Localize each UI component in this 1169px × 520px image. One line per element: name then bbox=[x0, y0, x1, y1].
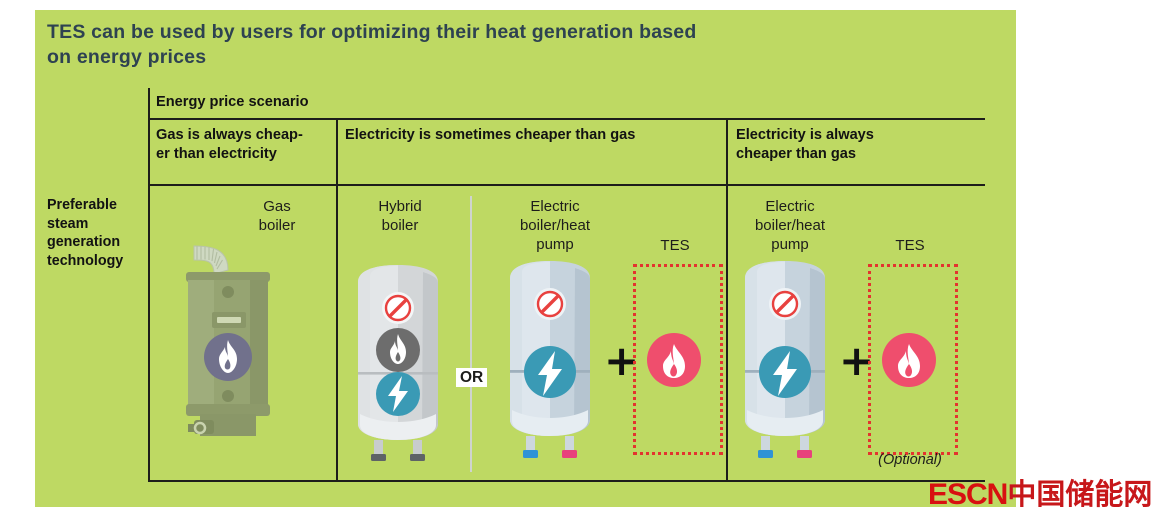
electric-boiler-caption-col3: Electric boiler/heat pump bbox=[727, 197, 853, 254]
hybrid-boiler-caption-line2: boiler bbox=[382, 217, 419, 234]
hybrid-boiler-illustration bbox=[348, 262, 458, 467]
row-label-line2: steam bbox=[47, 215, 147, 234]
page-title-line1: TES can be used by users for optimizing … bbox=[47, 20, 807, 45]
row-label-line4: technology bbox=[47, 252, 147, 271]
tes-heat-icon-col2 bbox=[647, 333, 701, 387]
tes-caption-col2: TES bbox=[625, 236, 725, 255]
hybrid-boiler-caption: Hybrid boiler bbox=[345, 197, 455, 235]
table-rule-bottom bbox=[148, 480, 985, 482]
column-header-electricity-sometimes-cheaper: Electricity is sometimes cheaper than ga… bbox=[345, 126, 723, 145]
table-vrule-left bbox=[148, 88, 150, 480]
electric-boiler-caption-col2: Electric boiler/heat pump bbox=[492, 197, 618, 254]
electric-boiler-caption-col3-line1: Electric bbox=[765, 198, 814, 215]
column-header-electricity-always-cheaper-line1: Electricity is always bbox=[736, 127, 874, 143]
column-header-electricity-always-cheaper-line2: cheaper than gas bbox=[736, 146, 856, 162]
watermark: ESCN中国储能网 bbox=[928, 477, 1152, 512]
column-header-electricity-always-cheaper: Electricity is always cheaper than gas bbox=[736, 126, 976, 163]
tes-caption-col3-line1: TES bbox=[895, 237, 924, 254]
tes-caption-col2-line1: TES bbox=[660, 237, 689, 254]
row-label-preferable-steam-generation-technology: Preferable steam generation technology bbox=[47, 196, 147, 270]
page-title-line2: on energy prices bbox=[47, 45, 807, 70]
gas-boiler-caption-line1: Gas bbox=[263, 198, 291, 215]
tes-heat-icon-col3 bbox=[882, 333, 936, 387]
watermark-en: ESCN bbox=[928, 478, 1007, 511]
tes-optional-note: (Optional) bbox=[860, 452, 960, 468]
column-header-gas-cheaper-line1: Gas is always cheap- bbox=[156, 127, 303, 143]
table-rule-middle bbox=[148, 184, 985, 186]
slide-root: TES can be used by users for optimizing … bbox=[0, 0, 1169, 520]
or-label: OR bbox=[456, 368, 487, 387]
gas-boiler-illustration bbox=[170, 226, 310, 466]
electric-boiler-illustration-col3 bbox=[735, 258, 845, 463]
tes-caption-col3: TES bbox=[860, 236, 960, 255]
electric-boiler-caption-col2-line1: Electric bbox=[530, 198, 579, 215]
watermark-cn: 中国储能网 bbox=[1007, 477, 1152, 511]
electric-boiler-caption-col3-line3: pump bbox=[771, 236, 809, 253]
table-vrule-col2 bbox=[726, 118, 728, 480]
column-header-gas-cheaper: Gas is always cheap- er than electricity bbox=[156, 126, 336, 163]
row-label-line3: generation bbox=[47, 233, 147, 252]
or-divider-line bbox=[470, 196, 472, 472]
column-header-gas-cheaper-line2: er than electricity bbox=[156, 146, 277, 162]
table-vrule-col1 bbox=[336, 118, 338, 480]
table-rule-top bbox=[148, 118, 985, 120]
hybrid-boiler-caption-line1: Hybrid bbox=[378, 198, 421, 215]
electric-boiler-illustration-col2 bbox=[500, 258, 610, 463]
electric-boiler-caption-col3-line2: boiler/heat bbox=[755, 217, 825, 234]
row-label-line1: Preferable bbox=[47, 196, 147, 215]
electric-boiler-caption-col2-line3: pump bbox=[536, 236, 574, 253]
page-title: TES can be used by users for optimizing … bbox=[47, 20, 807, 70]
column-header-electricity-sometimes-cheaper-line1: Electricity is sometimes cheaper than ga… bbox=[345, 127, 635, 143]
scenario-header: Energy price scenario bbox=[156, 93, 456, 112]
electric-boiler-caption-col2-line2: boiler/heat bbox=[520, 217, 590, 234]
